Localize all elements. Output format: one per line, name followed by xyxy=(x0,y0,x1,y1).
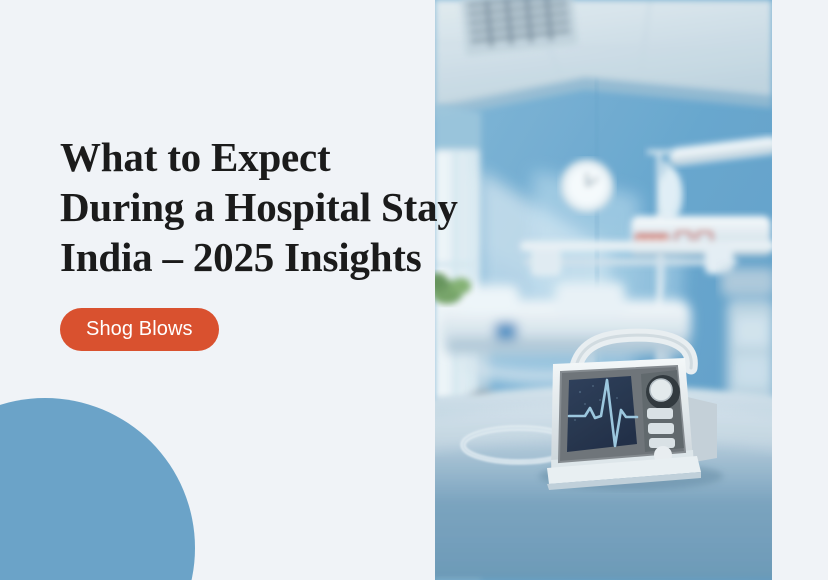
hospital-room-photo xyxy=(435,0,772,580)
decorative-circle xyxy=(0,398,195,580)
decorative-halftone-dots xyxy=(0,494,135,580)
decorative-shade xyxy=(0,494,135,580)
cta-button[interactable]: Shog Blows xyxy=(60,308,219,351)
content-column: What to Expect During a Hospital Stay In… xyxy=(60,132,480,351)
page-title: What to Expect During a Hospital Stay In… xyxy=(60,132,480,282)
blog-banner: What to Expect During a Hospital Stay In… xyxy=(0,0,828,580)
